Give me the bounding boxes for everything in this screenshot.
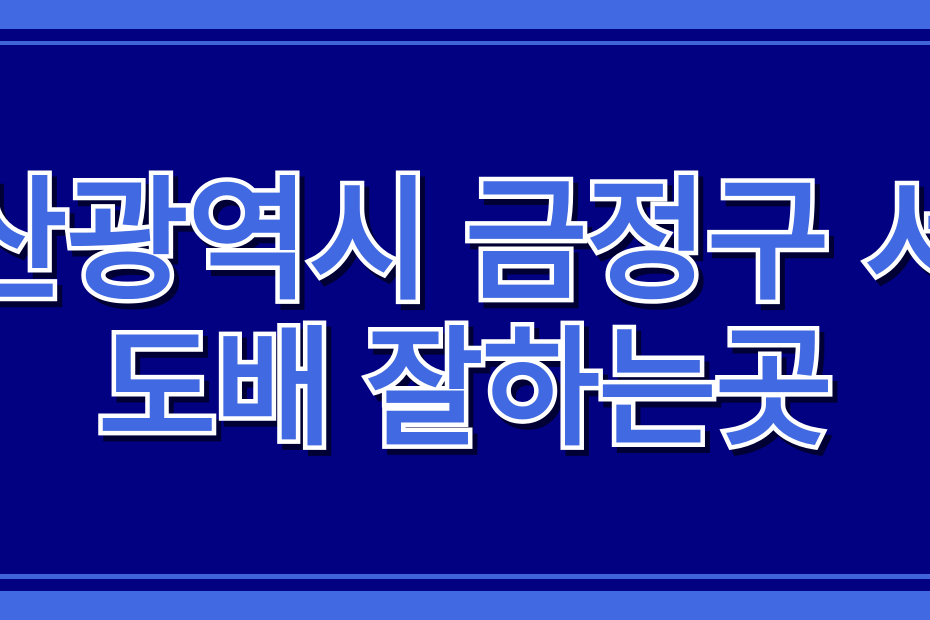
top-accent-rule (0, 41, 930, 45)
headline-line-1: 부산광역시 금정구 서동 (0, 173, 930, 313)
top-accent-band (0, 0, 930, 29)
banner-canvas: 부산광역시 금정구 서동 도배 잘하는곳 (0, 0, 930, 620)
headline-block: 부산광역시 금정구 서동 도배 잘하는곳 (0, 0, 930, 620)
headline-line-2: 도배 잘하는곳 (98, 323, 831, 457)
bottom-accent-rule (0, 574, 930, 579)
bottom-accent-band (0, 591, 930, 620)
